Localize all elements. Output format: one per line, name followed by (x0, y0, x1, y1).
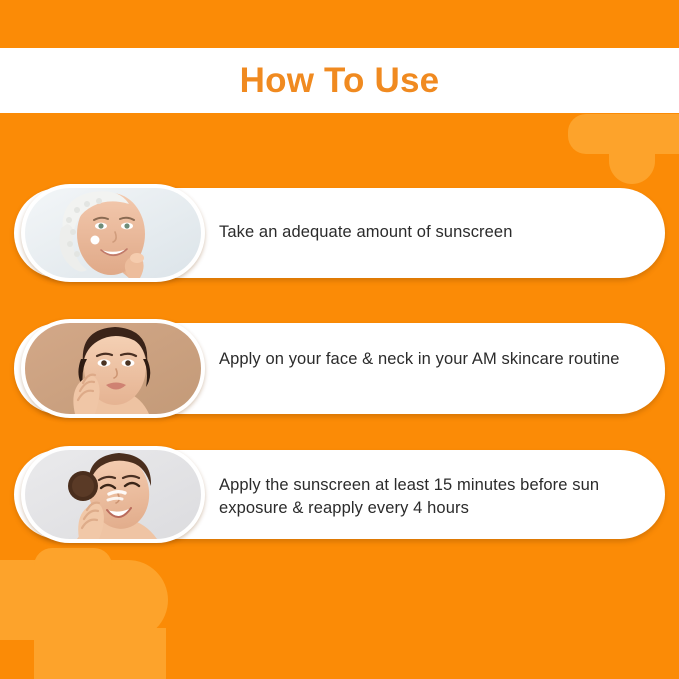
step-thumbnail (21, 184, 205, 282)
step-card: Apply on your face & neck in your AM ski… (14, 323, 665, 414)
woman-towel-applying-cream-photo (25, 188, 201, 278)
step-card: Apply the sunscreen at least 15 minutes … (14, 450, 665, 539)
step-text: Take an adequate amount of sunscreen (219, 221, 625, 244)
step-text: Apply the sunscreen at least 15 minutes … (219, 474, 625, 521)
decor-shape-bottom-left-tab (80, 628, 166, 679)
step-text: Apply on your face & neck in your AM ski… (219, 348, 625, 371)
top-orange-strip (0, 0, 679, 48)
decor-shape-top-right-tab (609, 142, 655, 184)
page-title: How To Use (240, 63, 440, 98)
step-card: Take an adequate amount of sunscreen (14, 188, 665, 278)
title-band: How To Use (0, 48, 679, 113)
poster-canvas: How To Use (0, 0, 679, 679)
woman-touching-face-photo (25, 323, 201, 414)
step-thumbnail (21, 446, 205, 543)
woman-smiling-sunscreen-cheek-photo (25, 450, 201, 539)
step-thumbnail (21, 319, 205, 418)
